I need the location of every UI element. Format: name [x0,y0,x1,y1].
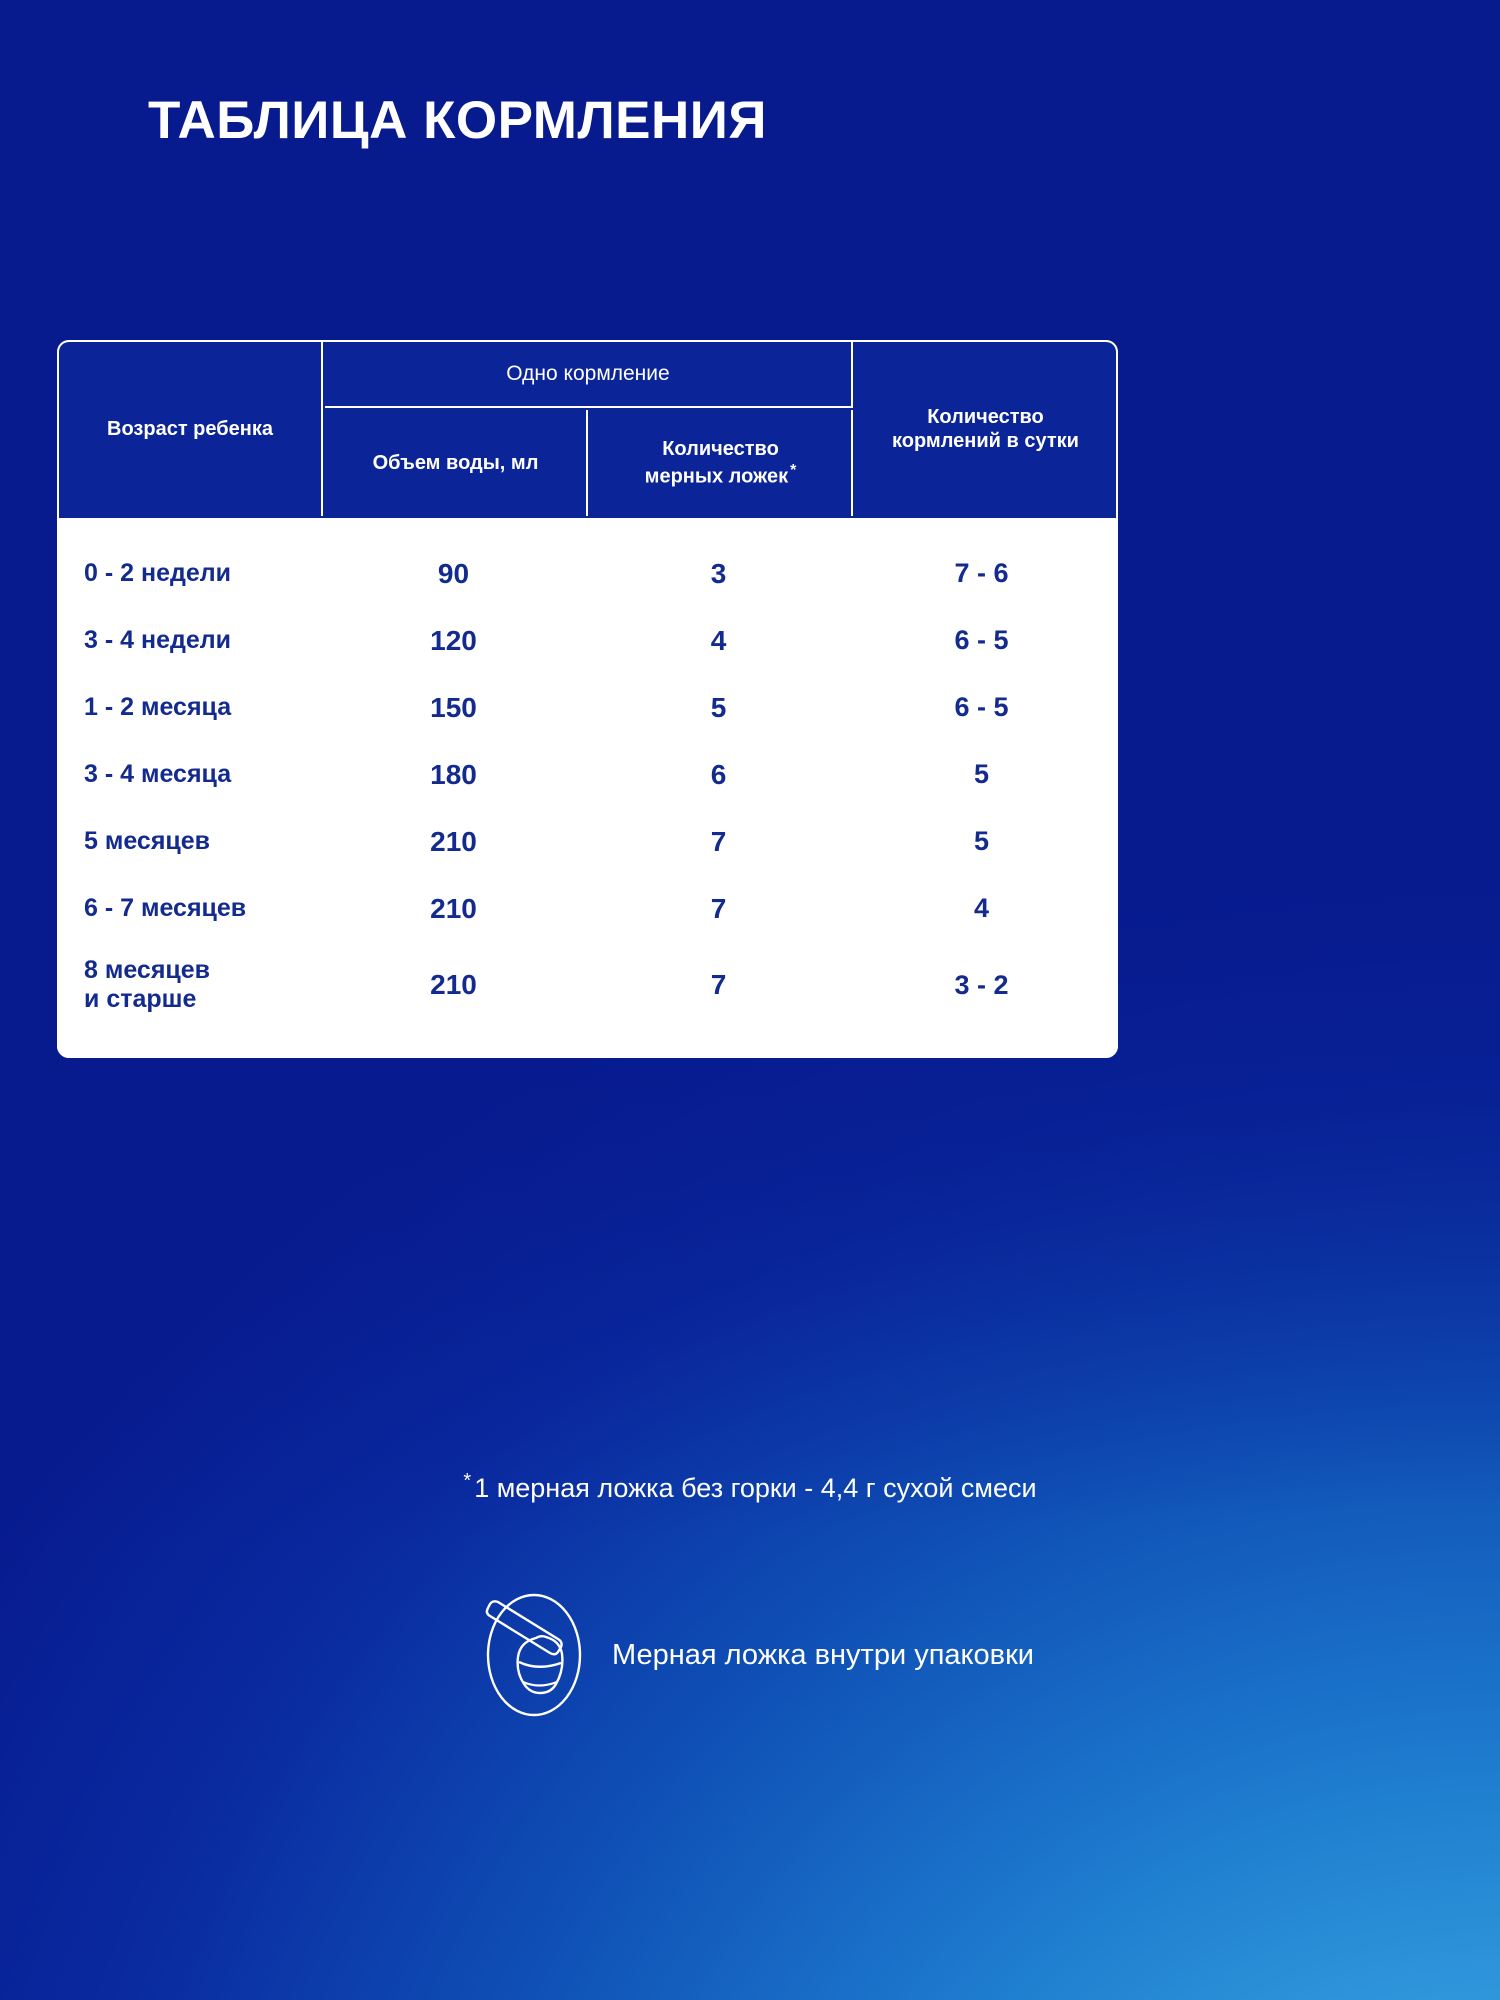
table-row: 1 - 2 месяца 150 5 6 - 5 [57,674,1118,741]
cell-per-day: 4 [851,893,1112,924]
column-header-scoops: Количество мерных ложек* [590,410,853,516]
table-header: Возраст ребенка Одно кормление Объем вод… [57,340,1118,518]
cell-age: 6 - 7 месяцев [57,894,321,924]
cell-per-day: 5 [851,759,1112,790]
cell-per-day: 6 - 5 [851,625,1112,656]
cell-age: 5 месяцев [57,827,321,857]
table-row: 3 - 4 недели 120 4 6 - 5 [57,607,1118,674]
column-header-perday-line1: Количество [927,406,1044,428]
cell-scoops: 5 [586,692,851,724]
cell-age: 0 - 2 недели [57,559,321,589]
cell-per-day: 7 - 6 [851,558,1112,589]
cell-scoops: 4 [586,625,851,657]
cell-age-line1: 8 месяцев [84,956,210,984]
table-row: 3 - 4 месяца 180 6 5 [57,741,1118,808]
cell-age: 8 месяцев и старше [57,956,321,1015]
cell-water: 180 [321,759,586,791]
cell-per-day: 3 - 2 [851,970,1112,1001]
footnote: *1 мерная ложка без горки - 4,4 г сухой … [0,1470,1500,1504]
cell-age: 3 - 4 недели [57,626,321,656]
column-header-feedings-per-day: Количество кормлений в сутки [855,342,1116,516]
cell-water: 120 [321,625,586,657]
cell-per-day: 6 - 5 [851,692,1112,723]
cell-water: 210 [321,969,586,1001]
cell-age: 3 - 4 месяца [57,760,321,790]
column-header-perday-line2: кормлений в сутки [892,430,1079,452]
table-row: 6 - 7 месяцев 210 7 4 [57,875,1118,942]
column-header-scoops-line1: Количество [662,438,779,460]
measuring-spoon-icon [466,1590,616,1720]
column-header-water-volume: Объем воды, мл [325,410,588,516]
column-header-age: Возраст ребенка [59,342,323,516]
column-group-header-one-feeding: Одно кормление [325,342,853,408]
cell-age: 1 - 2 месяца [57,693,321,723]
table-body: 0 - 2 недели 90 3 7 - 6 3 - 4 недели 120… [57,518,1118,1058]
table-row: 8 месяцев и старше 210 7 3 - 2 [57,942,1118,1028]
cell-scoops: 7 [586,969,851,1001]
cell-scoops: 7 [586,893,851,925]
cell-water: 150 [321,692,586,724]
column-header-scoops-line2: мерных ложек [645,466,788,488]
spoon-note: Мерная ложка внутри упаковки [0,1590,1500,1720]
cell-scoops: 6 [586,759,851,791]
footnote-marker-icon: * [790,462,796,479]
cell-water: 210 [321,893,586,925]
spoon-note-caption: Мерная ложка внутри упаковки [612,1639,1034,1672]
cell-scoops: 7 [586,826,851,858]
poster-page: ТАБЛИЦА КОРМЛЕНИЯ Возраст ребенка Одно к… [0,0,1500,2000]
feeding-table-card: Возраст ребенка Одно кормление Объем вод… [57,340,1118,1058]
table-row: 5 месяцев 210 7 5 [57,808,1118,875]
footnote-star-icon: * [463,1470,471,1492]
footnote-text: 1 мерная ложка без горки - 4,4 г сухой с… [474,1473,1036,1503]
cell-water: 210 [321,826,586,858]
cell-per-day: 5 [851,826,1112,857]
cell-age-line2: и старше [84,985,196,1013]
page-title: ТАБЛИЦА КОРМЛЕНИЯ [148,90,767,151]
cell-water: 90 [321,558,586,590]
table-row: 0 - 2 недели 90 3 7 - 6 [57,540,1118,607]
cell-scoops: 3 [586,558,851,590]
